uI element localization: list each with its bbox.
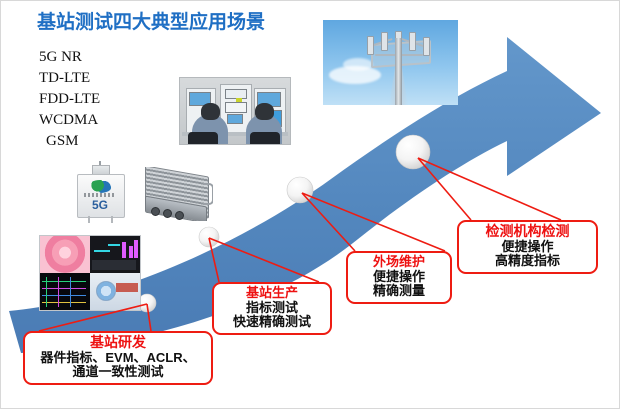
callout-mfg-line-2: 快速精确测试	[219, 315, 325, 330]
photo-rru-heatsink	[141, 167, 213, 221]
arrow-node-3[interactable]	[287, 177, 313, 203]
arrow-node-2[interactable]	[199, 227, 219, 247]
callout-field-line-1: 便捷操作	[353, 270, 445, 285]
page-title: 基站测试四大典型应用场景	[37, 7, 265, 34]
callout-certification-testing[interactable]: 检测机构检测 便捷操作 高精度指标	[457, 220, 598, 274]
callout-cert-line-1: 便捷操作	[464, 240, 591, 255]
callout-mfg-heading: 基站生产	[219, 286, 325, 301]
arrow-node-4[interactable]	[396, 135, 430, 169]
photo-measurement-collage	[39, 235, 141, 311]
tech-item-td-lte: TD-LTE	[39, 68, 100, 89]
callout-mfg-line-1: 指标测试	[219, 301, 325, 316]
slide-canvas: 基站测试四大典型应用场景 5G NR TD-LTE FDD-LTE WCDMA …	[0, 0, 620, 409]
tech-item-5g-nr: 5G NR	[39, 47, 100, 68]
photo-5g-unit-label: 5G	[73, 198, 127, 212]
callout-field-maintenance[interactable]: 外场维护 便捷操作 精确测量	[346, 251, 452, 304]
callout-cert-heading: 检测机构检测	[464, 224, 591, 240]
leader-mfg-a	[209, 238, 219, 282]
callout-base-station-rd[interactable]: 基站研发 器件指标、EVM、ACLR、 通道一致性测试	[23, 331, 213, 385]
leader-mfg-b	[209, 238, 319, 282]
photo-5g-unit: 5G	[73, 161, 127, 223]
photo-cell-tower	[323, 20, 458, 105]
callout-base-station-manufacturing[interactable]: 基站生产 指标测试 快速精确测试	[212, 282, 332, 335]
leader-field-a	[302, 193, 355, 251]
tech-item-fdd-lte: FDD-LTE	[39, 89, 100, 110]
tech-item-wcdma: WCDMA	[39, 110, 100, 131]
leader-cert-b	[418, 158, 561, 220]
callout-cert-line-2: 高精度指标	[464, 254, 591, 269]
callout-rd-line-1: 器件指标、EVM、ACLR、	[30, 351, 206, 366]
callout-rd-heading: 基站研发	[30, 335, 206, 351]
photo-lab-engineers	[179, 77, 291, 145]
tech-item-gsm: GSM	[39, 131, 100, 152]
technology-list: 5G NR TD-LTE FDD-LTE WCDMA GSM	[39, 47, 100, 152]
callout-field-heading: 外场维护	[353, 255, 445, 270]
callout-rd-line-2: 通道一致性测试	[30, 365, 206, 380]
leader-cert-a	[418, 158, 471, 220]
leader-field-b	[302, 193, 445, 251]
callout-field-line-2: 精确测量	[353, 284, 445, 299]
leader-rd-b	[147, 304, 151, 331]
